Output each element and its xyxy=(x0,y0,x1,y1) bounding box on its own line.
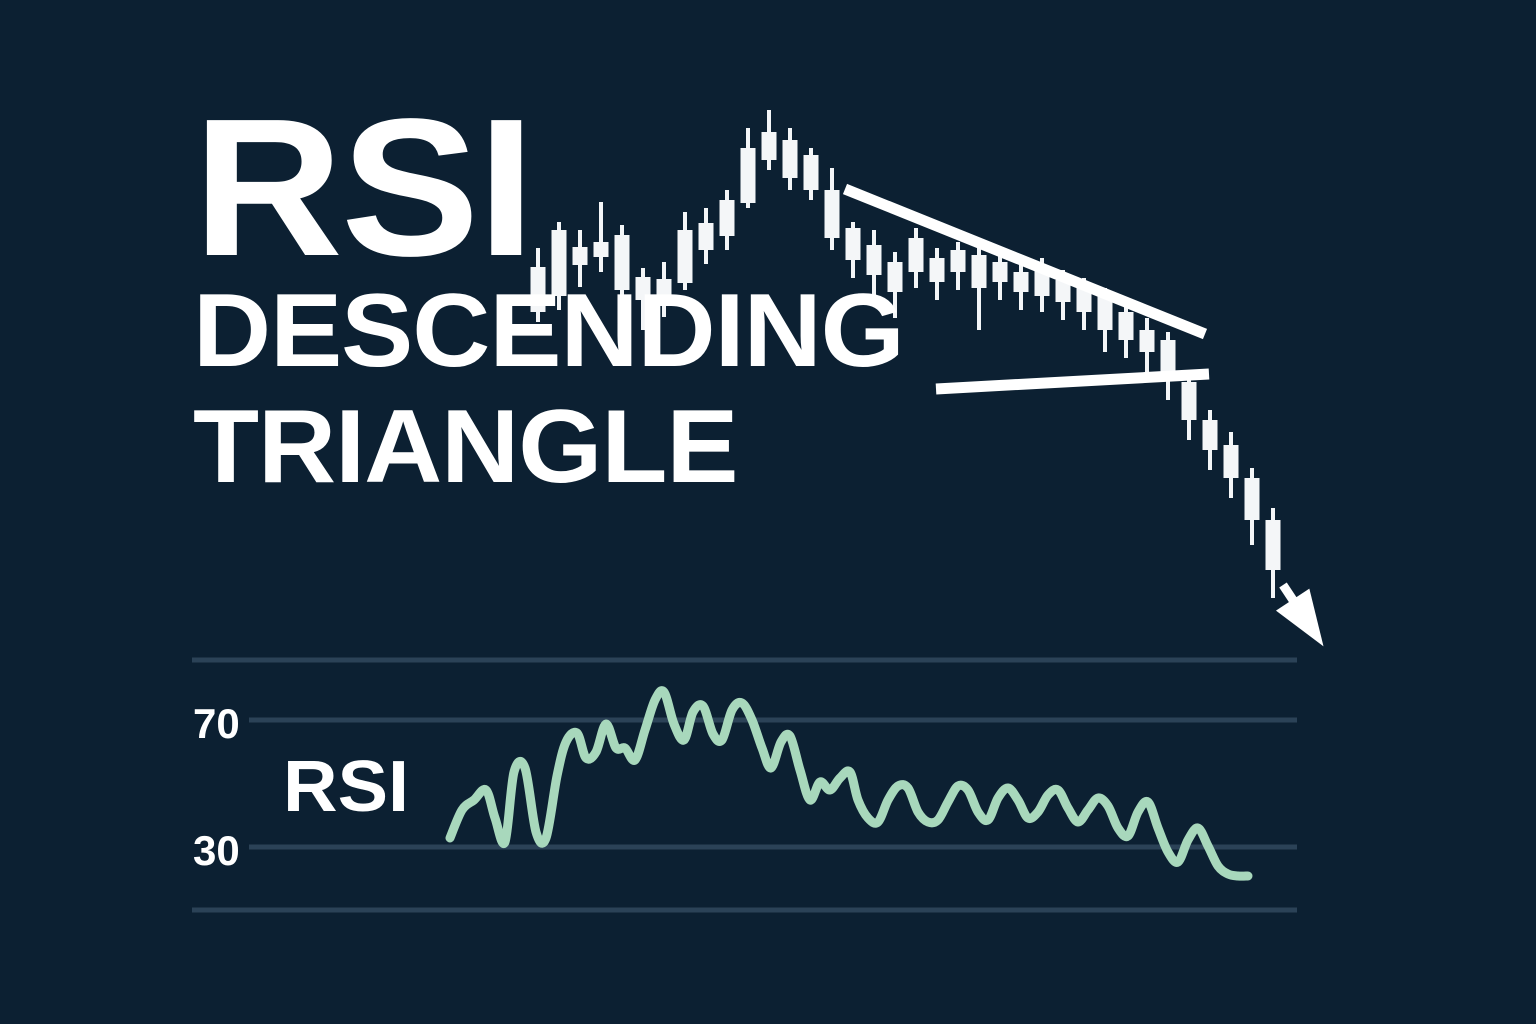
page-title: RSI xyxy=(193,104,917,273)
subtitle-line-1: DESCENDING xyxy=(193,273,904,389)
rsi-series-label: RSI xyxy=(283,751,409,823)
rsi-tick-70: 70 xyxy=(193,703,240,745)
rsi-tick-30: 30 xyxy=(193,830,240,872)
title-block: RSI DESCENDING TRIANGLE xyxy=(193,104,876,505)
chart-canvas: RSI DESCENDING TRIANGLE RSI 70 30 xyxy=(0,0,1536,1024)
subtitle-line-2: TRIANGLE xyxy=(193,389,904,505)
